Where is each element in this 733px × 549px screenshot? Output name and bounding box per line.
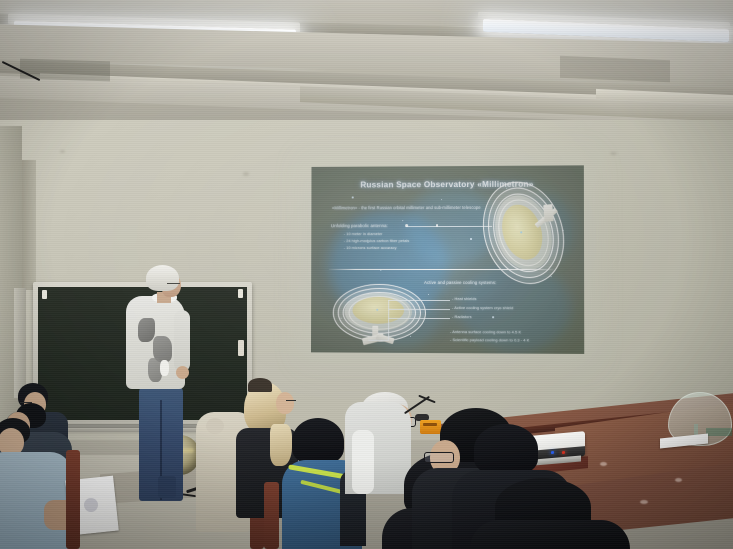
spacecraft-render-bottom <box>333 278 428 354</box>
blackboard-hinge <box>238 340 244 356</box>
speaker-shoe <box>158 476 176 498</box>
blackboard-side-panel <box>14 288 26 398</box>
speaker-sweater-patch-1 <box>138 318 155 342</box>
glasses-icon <box>424 452 454 463</box>
slide-section1-bullet-1: - 24 high-modulus carbon fiber petals <box>344 238 409 243</box>
slide-divider <box>329 269 554 270</box>
slide-subtitle: «Millimetron» - the first Russian orbita… <box>332 205 481 210</box>
slide-callout-0: - Heat shields <box>452 296 477 301</box>
speaker-arm <box>174 310 190 372</box>
wall-pilaster <box>22 160 36 290</box>
chair-back-4 <box>264 482 279 549</box>
speaker-hand <box>176 366 189 379</box>
slide-section1-heading: Unfolding parabolic antenna: <box>331 223 388 228</box>
chair-back-2 <box>66 450 80 549</box>
lecture-room-photo: Russian Space Observatory «Millimetron» … <box>0 0 733 549</box>
slide-section2-bullet-1: - Scientific payload cooling down to 0.3… <box>450 337 529 342</box>
slide-callout-2: - Radiators <box>452 314 472 319</box>
slide-section1-bullet-0: - 10 meter in diameter <box>344 231 383 236</box>
blackboard-clip-right <box>238 289 243 298</box>
slide-section1-bullet-2: - 10 microns surface accuracy <box>344 245 397 250</box>
projector-power-led <box>551 451 554 454</box>
speaker-glasses <box>167 283 180 284</box>
blackboard-clip-left <box>42 290 47 299</box>
slide-section2-bullet-0: - Antenna surface cooling down to 4.5 K <box>450 329 521 334</box>
projector-status-led <box>562 451 565 454</box>
speaker-hair <box>146 265 179 291</box>
slide-callout-1: - Active cooling system cryo shield <box>452 305 513 310</box>
ceiling <box>0 0 733 132</box>
projected-slide: Russian Space Observatory «Millimetron» … <box>311 165 584 354</box>
slide-section2-heading: Active and passive cooling systems: <box>424 280 496 285</box>
